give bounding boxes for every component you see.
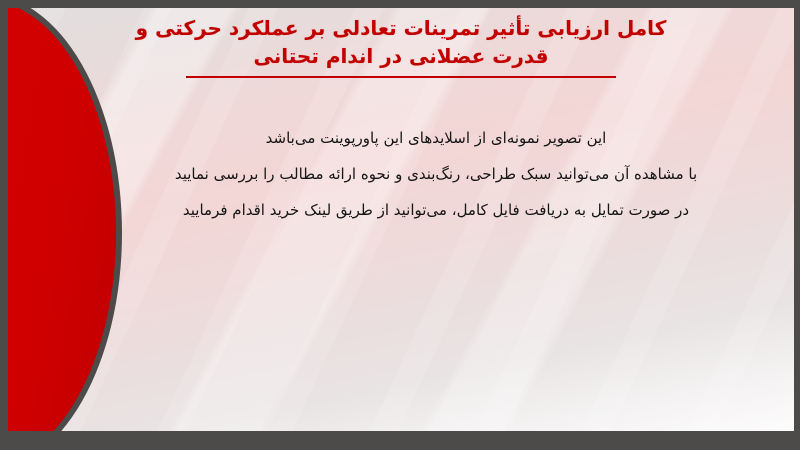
title-underline (186, 76, 616, 78)
title-line-2: قدرت عضلانی در اندام تحتانی (8, 42, 794, 70)
slide-canvas: کامل ارزیابی تأثیر تمرینات تعادلی بر عمل… (8, 8, 794, 431)
body-line-2: با مشاهده آن می‌توانید سبک طراحی، رنگ‌بن… (98, 156, 774, 192)
presentation-slide: کامل ارزیابی تأثیر تمرینات تعادلی بر عمل… (0, 0, 800, 450)
body-line-3: در صورت تمایل به دریافت فایل کامل، می‌تو… (98, 192, 774, 228)
title-line-1: کامل ارزیابی تأثیر تمرینات تعادلی بر عمل… (8, 14, 794, 42)
slide-body: این تصویر نمونه‌ای از اسلایدهای این پاور… (98, 120, 774, 228)
body-line-1: این تصویر نمونه‌ای از اسلایدهای این پاور… (98, 120, 774, 156)
slide-title: کامل ارزیابی تأثیر تمرینات تعادلی بر عمل… (8, 14, 794, 78)
